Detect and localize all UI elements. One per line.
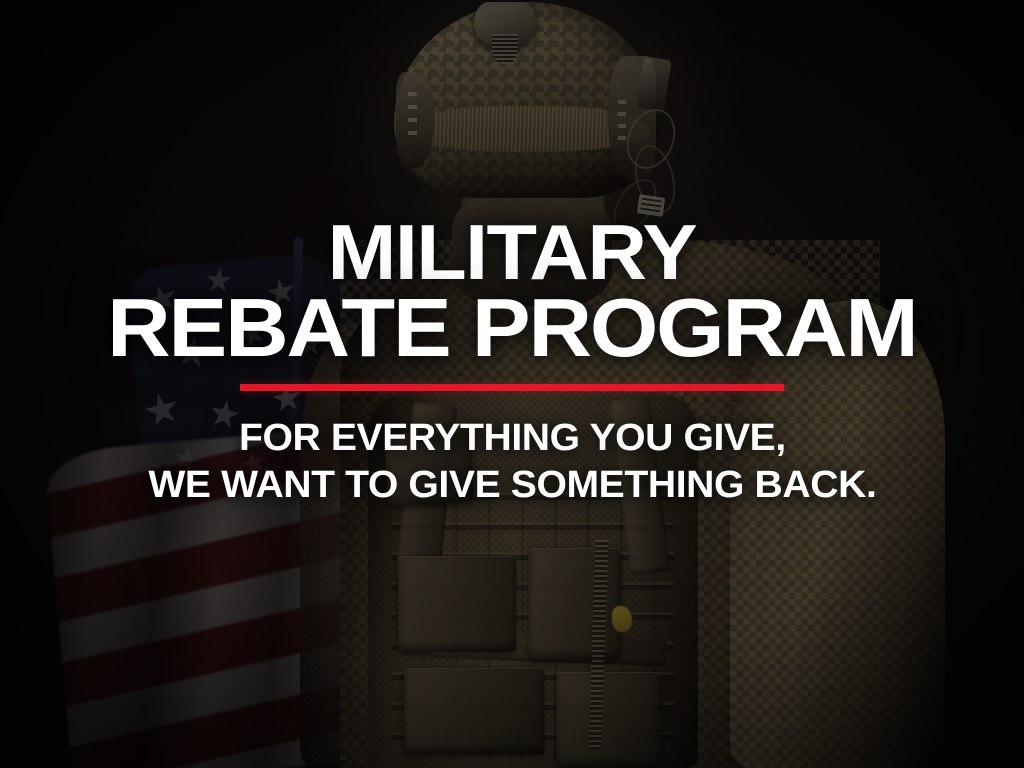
headline: MILITARY REBATE PROGRAM [107,216,916,367]
headline-line-2: REBATE PROGRAM [107,289,916,367]
subheadline: FOR EVERYTHING YOU GIVE, WE WANT TO GIVE… [148,415,876,508]
text-overlay: MILITARY REBATE PROGRAM FOR EVERYTHING Y… [0,0,1024,768]
subheadline-line-2: WE WANT TO GIVE SOMETHING BACK. [148,462,876,508]
subheadline-line-1: FOR EVERYTHING YOU GIVE, [239,417,786,459]
poster-canvas: MILITARY REBATE PROGRAM FOR EVERYTHING Y… [0,0,1024,768]
red-divider-rule [240,384,784,391]
